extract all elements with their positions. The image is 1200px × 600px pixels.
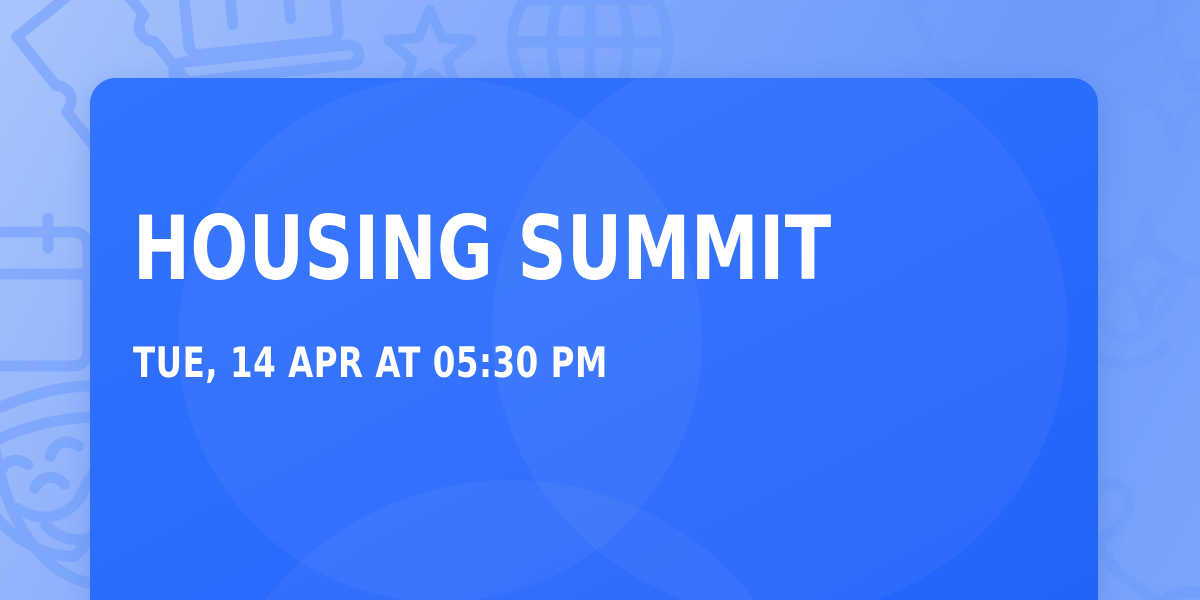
calendar-icon [0,218,88,366]
event-title: HOUSING SUMMIT [133,208,832,291]
event-datetime: TUE, 14 APR AT 05:30 PM [133,342,608,384]
laptop-icon [162,0,360,83]
event-banner: HOUSING SUMMIT TUE, 14 APR AT 05:30 PM [0,0,1200,600]
ticket-icon [986,0,1179,88]
sparkle-icon [1122,40,1200,150]
event-card[interactable]: HOUSING SUMMIT TUE, 14 APR AT 05:30 PM [90,78,1098,600]
